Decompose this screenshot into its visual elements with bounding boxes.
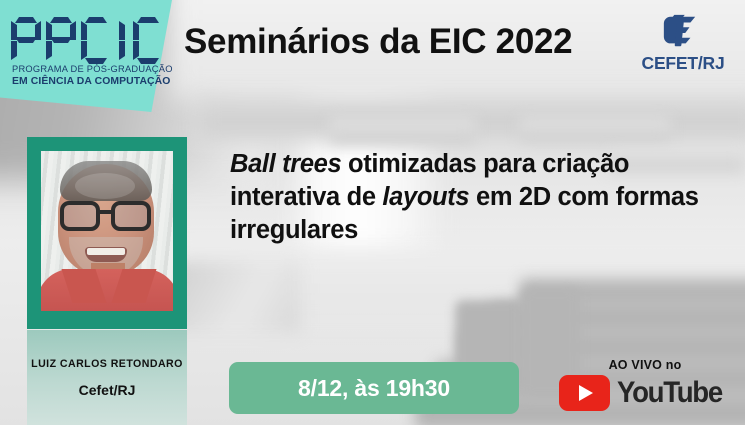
ppcic-letter-c bbox=[133, 17, 163, 64]
ppcic-letter-i bbox=[116, 17, 128, 64]
background-wall-panel bbox=[520, 118, 670, 142]
speaker-name: LUIZ CARLOS RETONDARO bbox=[27, 358, 187, 370]
speaker-name-card: LUIZ CARLOS RETONDARO Cefet/RJ bbox=[27, 330, 187, 425]
talk-title-part-2: interativa de bbox=[230, 183, 382, 211]
ppcic-subtitle: PROGRAMA DE PÓS-GRADUAÇÃO EM CIÊNCIA DA … bbox=[12, 63, 164, 88]
talk-title-italic-1: Ball trees bbox=[230, 150, 341, 178]
seminar-poster: PROGRAMA DE PÓS-GRADUAÇÃO EM CIÊNCIA DA … bbox=[0, 0, 745, 425]
talk-title-part-1: otimizadas para criação bbox=[341, 150, 629, 178]
schedule-text: 8/12, às 19h30 bbox=[298, 375, 450, 402]
cefet-rj-wordmark: CEFET/RJ bbox=[635, 53, 731, 74]
speaker-portrait bbox=[41, 151, 173, 311]
talk-title-italic-2: layouts bbox=[382, 183, 469, 211]
page-title: Seminários da EIC 2022 bbox=[184, 22, 572, 62]
youtube-logo[interactable]: YouTube bbox=[556, 375, 734, 411]
cefet-rj-logo: CEFET/RJ bbox=[635, 13, 731, 74]
ppcic-logo-mark bbox=[11, 17, 163, 64]
ppcic-letter-p bbox=[11, 17, 41, 64]
talk-title-part-3: em 2D com bbox=[469, 183, 609, 211]
background-stage-rail bbox=[170, 262, 300, 332]
speaker-affiliation: Cefet/RJ bbox=[27, 382, 187, 398]
youtube-wordmark: YouTube bbox=[617, 378, 722, 408]
eyeglasses-icon bbox=[59, 201, 157, 231]
talk-title: Ball trees otimizadas para criação inter… bbox=[230, 148, 700, 247]
background-wall-panel bbox=[330, 118, 475, 144]
ppcic-letter-c bbox=[81, 17, 111, 64]
ppcic-subtitle-line-2: EM CIÊNCIA DA COMPUTAÇÃO bbox=[12, 75, 164, 88]
live-label: AO VIVO no bbox=[556, 358, 734, 372]
broadcast-block: AO VIVO no YouTube bbox=[556, 358, 734, 411]
ppcic-subtitle-line-1: PROGRAMA DE PÓS-GRADUAÇÃO bbox=[12, 63, 164, 75]
schedule-badge: 8/12, às 19h30 bbox=[229, 362, 519, 414]
ppcic-letter-p bbox=[46, 17, 76, 64]
speaker-photo-frame bbox=[27, 137, 187, 329]
cefet-f-monogram-icon bbox=[661, 13, 705, 51]
youtube-play-icon[interactable] bbox=[559, 375, 610, 411]
